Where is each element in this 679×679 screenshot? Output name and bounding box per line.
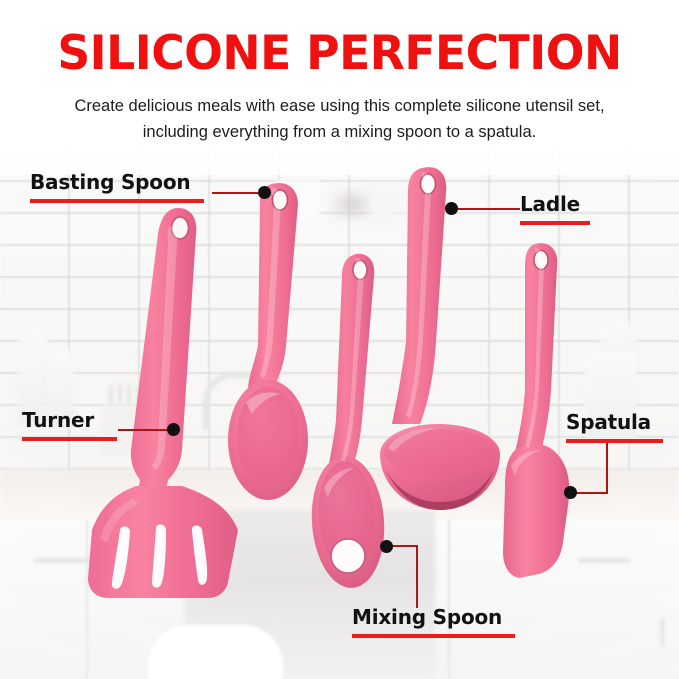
callout-underline-ladle [520,221,590,225]
infographic-canvas: SILICONE PERFECTION Create delicious mea… [0,0,679,679]
leader-basting-spoon [212,186,282,202]
callout-underline-basting-spoon [30,199,204,203]
spatula-handle [515,243,557,452]
leader-dot-mixing-spoon [380,540,393,553]
callout-underline-mixing-spoon [352,634,515,638]
leader-turner [118,423,198,439]
callout-turner[interactable]: Turner [22,408,117,441]
callout-underline-turner [22,437,117,441]
leader-dot-turner [167,423,180,436]
leader-dot-spatula [564,486,577,499]
leader-ladle [445,202,525,218]
callout-label-spatula: Spatula [566,410,663,434]
leader-dot-ladle [445,202,458,215]
leader-mixing-spoon [380,540,430,608]
callout-underline-spatula [566,439,663,443]
callout-basting-spoon[interactable]: Basting Spoon [30,170,204,203]
page-title: SILICONE PERFECTION [10,30,669,77]
callout-ladle[interactable]: Ladle [520,192,590,225]
callout-label-basting-spoon: Basting Spoon [30,170,204,194]
callout-spatula[interactable]: Spatula [566,410,663,443]
page-subtitle: Create delicious meals with ease using t… [0,93,679,145]
leader-spatula [562,440,652,510]
callout-mixing-spoon[interactable]: Mixing Spoon [352,605,515,638]
ladle-handle [392,167,446,424]
callout-label-ladle: Ladle [520,192,590,216]
header: SILICONE PERFECTION Create delicious mea… [0,0,679,145]
leader-dot-basting-spoon [258,186,271,199]
callout-label-mixing-spoon: Mixing Spoon [352,605,515,629]
mixing-spoon-handle [328,254,374,470]
callout-label-turner: Turner [22,408,117,432]
